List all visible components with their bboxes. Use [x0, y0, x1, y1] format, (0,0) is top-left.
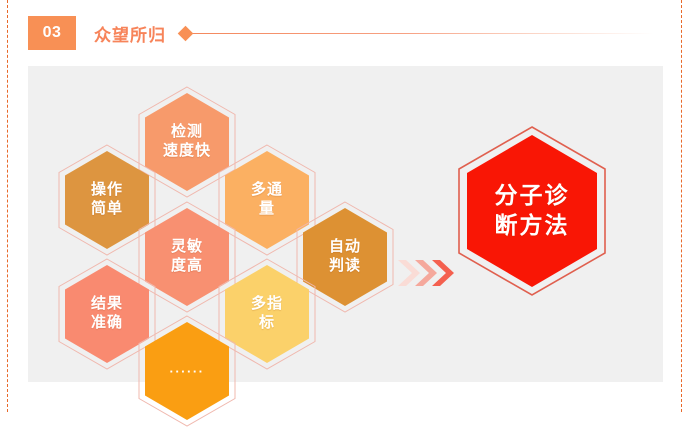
hex-ellipsis-label: ······ [170, 364, 205, 379]
hexagon-diagram: 检测 速度快操作 简单多通 量灵敏 度高自动 判读结果 准确多指 标······… [28, 66, 663, 382]
hex-fenzi-zhenduan-fangfa[interactable]: 分子诊 断方法 [458, 126, 606, 296]
hex-duozhibiao-label: 多指 标 [251, 295, 283, 333]
hex-jiance-sudu-kuai-label: 检测 速度快 [163, 123, 211, 161]
hex-caozuo-jiandan-label: 操作 简单 [91, 181, 123, 219]
dashed-guide-right [681, 0, 682, 412]
hex-jieguo-zhunque-label: 结果 准确 [91, 295, 123, 333]
dashed-guide-left [7, 0, 8, 412]
content-panel: 检测 速度快操作 简单多通 量灵敏 度高自动 判读结果 准确多指 标······… [28, 66, 663, 382]
diamond-marker-icon [178, 25, 194, 41]
triple-chevron-right-icon [396, 256, 458, 290]
page-title: 众望所归 [94, 21, 166, 46]
header-rule [190, 33, 668, 34]
hex-zidong-pandu-label: 自动 判读 [329, 238, 361, 276]
hex-lingmin-dugao-label: 灵敏 度高 [171, 238, 203, 276]
hex-duotongliang-label: 多通 量 [251, 181, 283, 219]
hex-ellipsis[interactable]: ······ [138, 315, 236, 427]
section-header: 03 众望所归 [28, 16, 668, 50]
section-number-badge: 03 [28, 16, 76, 50]
hex-fenzi-zhenduan-fangfa-label: 分子诊 断方法 [495, 181, 570, 241]
